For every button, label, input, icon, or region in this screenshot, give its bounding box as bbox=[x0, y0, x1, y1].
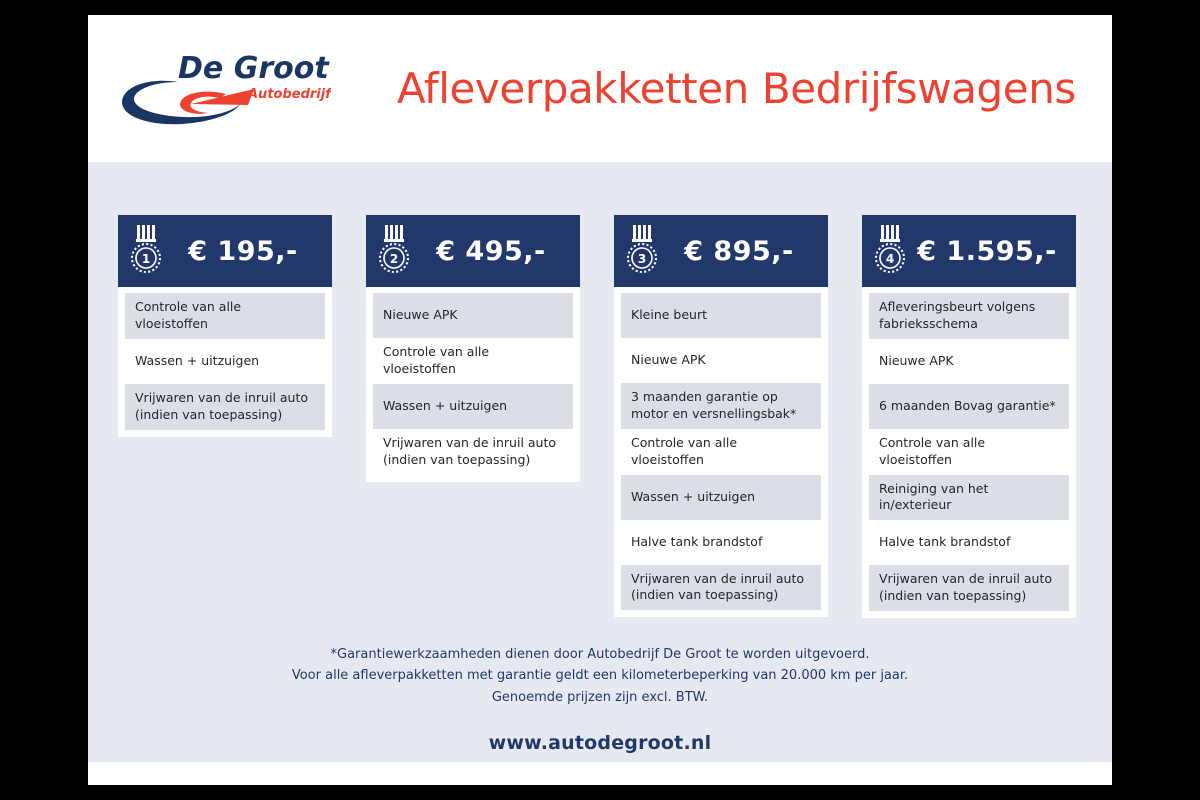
package-item: Wassen + uitzuigen bbox=[621, 475, 821, 520]
package-item-list: Controle van alle vloeistoffen Wassen + … bbox=[118, 287, 332, 437]
package-price: € 495,- bbox=[412, 236, 570, 267]
footnotes: *Garantiewerkzaamheden dienen door Autob… bbox=[88, 644, 1112, 708]
package-item: Afleveringsbeurt volgens fabrieksschema bbox=[869, 293, 1069, 339]
package-price: € 895,- bbox=[660, 236, 818, 267]
medal-number: 1 bbox=[142, 252, 150, 266]
logo: De Groot Autobedrijf bbox=[116, 46, 331, 132]
package-item: Kleine beurt bbox=[621, 293, 821, 338]
package-card-header: 2 € 495,- bbox=[366, 215, 580, 287]
footnote-line-1: *Garantiewerkzaamheden dienen door Autob… bbox=[88, 644, 1112, 665]
package-card[interactable]: 3 € 895,- Kleine beurt Nieuwe APK 3 maan… bbox=[614, 215, 828, 617]
website-link[interactable]: www.autodegroot.nl bbox=[88, 732, 1112, 754]
package-item: Controle van alle vloeistoffen bbox=[621, 429, 821, 475]
package-item: 3 maanden garantie op motor en versnelli… bbox=[621, 383, 821, 429]
package-item: Wassen + uitzuigen bbox=[125, 339, 325, 384]
package-item: Controle van alle vloeistoffen bbox=[125, 293, 325, 339]
medal-number: 3 bbox=[638, 252, 646, 266]
logo-wordmark: De Groot bbox=[178, 51, 330, 86]
medal-number: 4 bbox=[886, 252, 894, 266]
poster: De Groot Autobedrijf Afleverpakketten Be… bbox=[88, 15, 1112, 785]
medal-icon: 2 bbox=[378, 225, 412, 277]
package-item-list: Kleine beurt Nieuwe APK 3 maanden garant… bbox=[614, 287, 828, 617]
package-item: Controle van alle vloeistoffen bbox=[373, 338, 573, 384]
medal-icon: 4 bbox=[874, 225, 908, 277]
footnote-line-2: Voor alle afleverpakketten met garantie … bbox=[88, 665, 1112, 686]
package-price: € 1.595,- bbox=[908, 236, 1066, 267]
poster-body: 1 € 195,- Controle van alle vloeistoffen… bbox=[88, 162, 1112, 762]
package-item: Wassen + uitzuigen bbox=[373, 384, 573, 429]
package-card[interactable]: 2 € 495,- Nieuwe APK Controle van alle v… bbox=[366, 215, 580, 482]
package-item: Nieuwe APK bbox=[373, 293, 573, 338]
package-item-list: Nieuwe APK Controle van alle vloeistoffe… bbox=[366, 287, 580, 482]
footer-strip bbox=[88, 762, 1112, 785]
package-item: Nieuwe APK bbox=[621, 338, 821, 383]
package-item: Nieuwe APK bbox=[869, 339, 1069, 384]
medal-icon: 3 bbox=[626, 225, 660, 277]
page-title: Afleverpakketten Bedrijfswagens bbox=[397, 64, 1076, 113]
package-item: Vrijwaren van de inruil auto (indien van… bbox=[125, 384, 325, 430]
package-card[interactable]: 1 € 195,- Controle van alle vloeistoffen… bbox=[118, 215, 332, 437]
package-price: € 195,- bbox=[164, 236, 322, 267]
poster-header: De Groot Autobedrijf Afleverpakketten Be… bbox=[88, 15, 1112, 162]
package-item: Vrijwaren van de inruil auto (indien van… bbox=[373, 429, 573, 475]
logo-tagline: Autobedrijf bbox=[247, 87, 331, 102]
package-item: Vrijwaren van de inruil auto (indien van… bbox=[869, 565, 1069, 611]
package-item: Halve tank brandstof bbox=[621, 520, 821, 565]
package-item: Controle van alle vloeistoffen bbox=[869, 429, 1069, 475]
package-item: Vrijwaren van de inruil auto (indien van… bbox=[621, 565, 821, 611]
package-item: Halve tank brandstof bbox=[869, 520, 1069, 565]
package-card-header: 4 € 1.595,- bbox=[862, 215, 1076, 287]
package-card[interactable]: 4 € 1.595,- Afleveringsbeurt volgens fab… bbox=[862, 215, 1076, 618]
package-item-list: Afleveringsbeurt volgens fabrieksschema … bbox=[862, 287, 1076, 618]
package-item: Reiniging van het in/exterieur bbox=[869, 475, 1069, 521]
medal-icon: 1 bbox=[130, 225, 164, 277]
package-cards: 1 € 195,- Controle van alle vloeistoffen… bbox=[88, 215, 1112, 618]
package-card-header: 3 € 895,- bbox=[614, 215, 828, 287]
package-card-header: 1 € 195,- bbox=[118, 215, 332, 287]
medal-number: 2 bbox=[390, 252, 398, 266]
footnote-line-3: Genoemde prijzen zijn excl. BTW. bbox=[88, 687, 1112, 708]
package-item: 6 maanden Bovag garantie* bbox=[869, 384, 1069, 429]
